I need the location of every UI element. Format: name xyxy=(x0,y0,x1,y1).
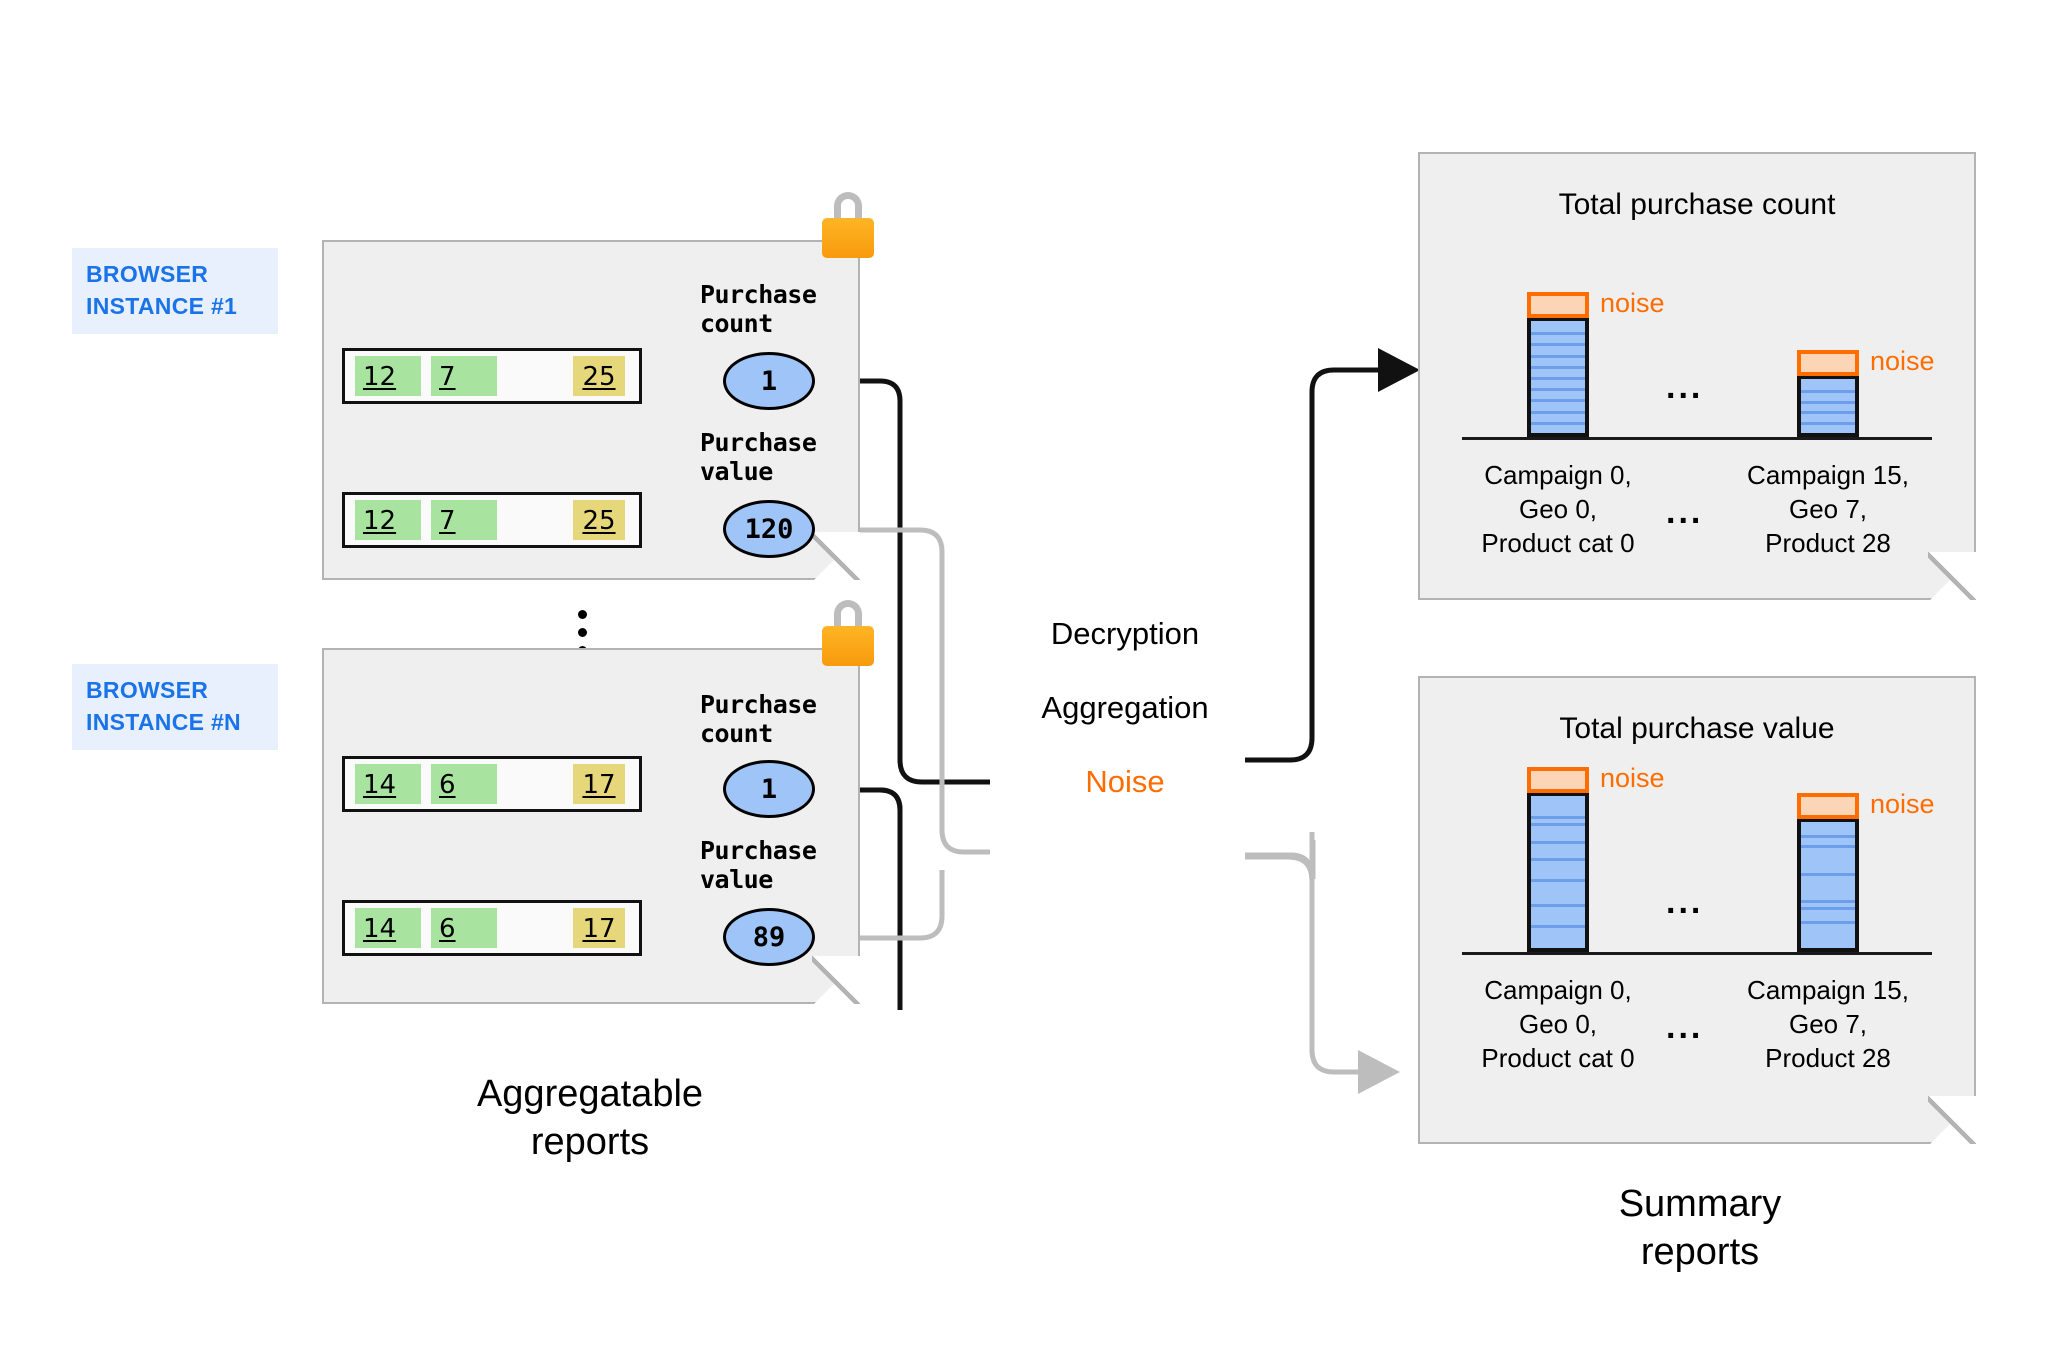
bar-group-count-0 xyxy=(1527,317,1589,437)
bar-segment-divider xyxy=(1531,332,1585,335)
report-cell: 12 xyxy=(355,356,421,396)
purchase-count-label: Purchase count xyxy=(700,690,816,748)
bar-value-0 xyxy=(1527,792,1589,952)
padlock-icon xyxy=(822,600,874,668)
bar-segment-divider xyxy=(1531,411,1585,414)
process-line-decryption: Decryption xyxy=(1000,615,1250,652)
bar-segment-divider xyxy=(1801,411,1855,414)
report-cell: 7 xyxy=(431,356,497,396)
chart-gap-dots-value: ... xyxy=(1666,885,1703,919)
bar-segment-divider xyxy=(1801,921,1855,924)
report-row: 12 7 25 xyxy=(342,348,642,404)
bar-segment-divider xyxy=(1531,377,1585,380)
bar-segment-divider xyxy=(1531,879,1585,882)
bar-segment-divider xyxy=(1801,900,1855,903)
bar-segment-divider xyxy=(1531,399,1585,402)
report-cell: 12 xyxy=(355,500,421,540)
bar-count-0 xyxy=(1527,317,1589,437)
noise-label-count-1: noise xyxy=(1870,346,1935,377)
bar-segment-divider xyxy=(1801,907,1855,910)
noise-label-value-1: noise xyxy=(1870,789,1935,820)
bar-segment-divider xyxy=(1801,873,1855,876)
report-cell: 14 xyxy=(355,764,421,804)
bar-segment-divider xyxy=(1801,390,1855,393)
bar-segment-divider xyxy=(1531,422,1585,425)
process-label: Decryption Aggregation Noise xyxy=(1000,578,1250,837)
process-line-aggregation: Aggregation xyxy=(1000,689,1250,726)
purchase-value-label: Purchase value xyxy=(700,836,816,894)
bar-value-1 xyxy=(1797,818,1859,952)
noise-cap-value-0 xyxy=(1527,767,1589,793)
category-gap-dots-count: ... xyxy=(1666,495,1703,529)
report-cell: 17 xyxy=(573,764,625,804)
bar-segment-divider xyxy=(1531,925,1585,928)
bar-segment-divider xyxy=(1801,422,1855,425)
bar-segment-divider xyxy=(1531,904,1585,907)
caption-summary-reports: Summary reports xyxy=(1440,1180,1960,1276)
purchase-count-bubble: 1 xyxy=(723,760,815,818)
category-label-count-1: Campaign 15, Geo 7, Product 28 xyxy=(1718,458,1938,560)
chart-title-count: Total purchase count xyxy=(1418,188,1976,222)
bar-segment-divider xyxy=(1531,388,1585,391)
bar-group-count-1 xyxy=(1797,375,1859,437)
category-gap-dots-value: ... xyxy=(1666,1010,1703,1044)
category-label-count-0: Campaign 0, Geo 0, Product cat 0 xyxy=(1448,458,1668,560)
purchase-count-bubble: 1 xyxy=(723,352,815,410)
report-row: 12 7 25 xyxy=(342,492,642,548)
process-line-noise: Noise xyxy=(1000,763,1250,800)
chart-axis-value xyxy=(1462,952,1932,955)
bar-group-value-1 xyxy=(1797,818,1859,952)
bar-count-1 xyxy=(1797,375,1859,437)
padlock-icon xyxy=(822,192,874,260)
report-cell: 25 xyxy=(573,500,625,540)
report-cell: 7 xyxy=(431,500,497,540)
bar-segment-divider xyxy=(1531,355,1585,358)
noise-cap-value-1 xyxy=(1797,793,1859,819)
chart-gap-dots-count: ... xyxy=(1666,370,1703,404)
bar-group-value-0 xyxy=(1527,792,1589,952)
browser-instance-1-tag: BROWSER INSTANCE #1 xyxy=(72,248,278,334)
noise-label-value-0: noise xyxy=(1600,763,1665,794)
bar-segment-divider xyxy=(1531,858,1585,861)
caption-aggregatable-reports: Aggregatable reports xyxy=(330,1070,850,1166)
bar-segment-divider xyxy=(1801,835,1855,838)
bar-segment-divider xyxy=(1531,343,1585,346)
report-row: 14 6 17 xyxy=(342,900,642,956)
browser-instance-n-tag: BROWSER INSTANCE #N xyxy=(72,664,278,750)
report-cell: 6 xyxy=(431,908,497,948)
noise-cap-count-1 xyxy=(1797,350,1859,376)
category-label-value-1: Campaign 15, Geo 7, Product 28 xyxy=(1718,973,1938,1075)
noise-cap-count-0 xyxy=(1527,292,1589,318)
bar-segment-divider xyxy=(1801,401,1855,404)
report-cell: 14 xyxy=(355,908,421,948)
bar-segment-divider xyxy=(1531,823,1585,826)
report-row: 14 6 17 xyxy=(342,756,642,812)
noise-label-count-0: noise xyxy=(1600,288,1665,319)
report-cell: 25 xyxy=(573,356,625,396)
purchase-value-bubble: 89 xyxy=(723,908,815,966)
bar-segment-divider xyxy=(1801,845,1855,848)
bar-segment-divider xyxy=(1531,366,1585,369)
category-label-value-0: Campaign 0, Geo 0, Product cat 0 xyxy=(1448,973,1668,1075)
purchase-count-label: Purchase count xyxy=(700,280,816,338)
report-cell: 6 xyxy=(431,764,497,804)
chart-axis-count xyxy=(1462,437,1932,440)
purchase-value-label: Purchase value xyxy=(700,428,816,486)
report-cell: 17 xyxy=(573,908,625,948)
bar-segment-divider xyxy=(1531,816,1585,819)
chart-title-value: Total purchase value xyxy=(1418,712,1976,746)
bar-segment-divider xyxy=(1531,841,1585,844)
purchase-value-bubble: 120 xyxy=(723,500,815,558)
